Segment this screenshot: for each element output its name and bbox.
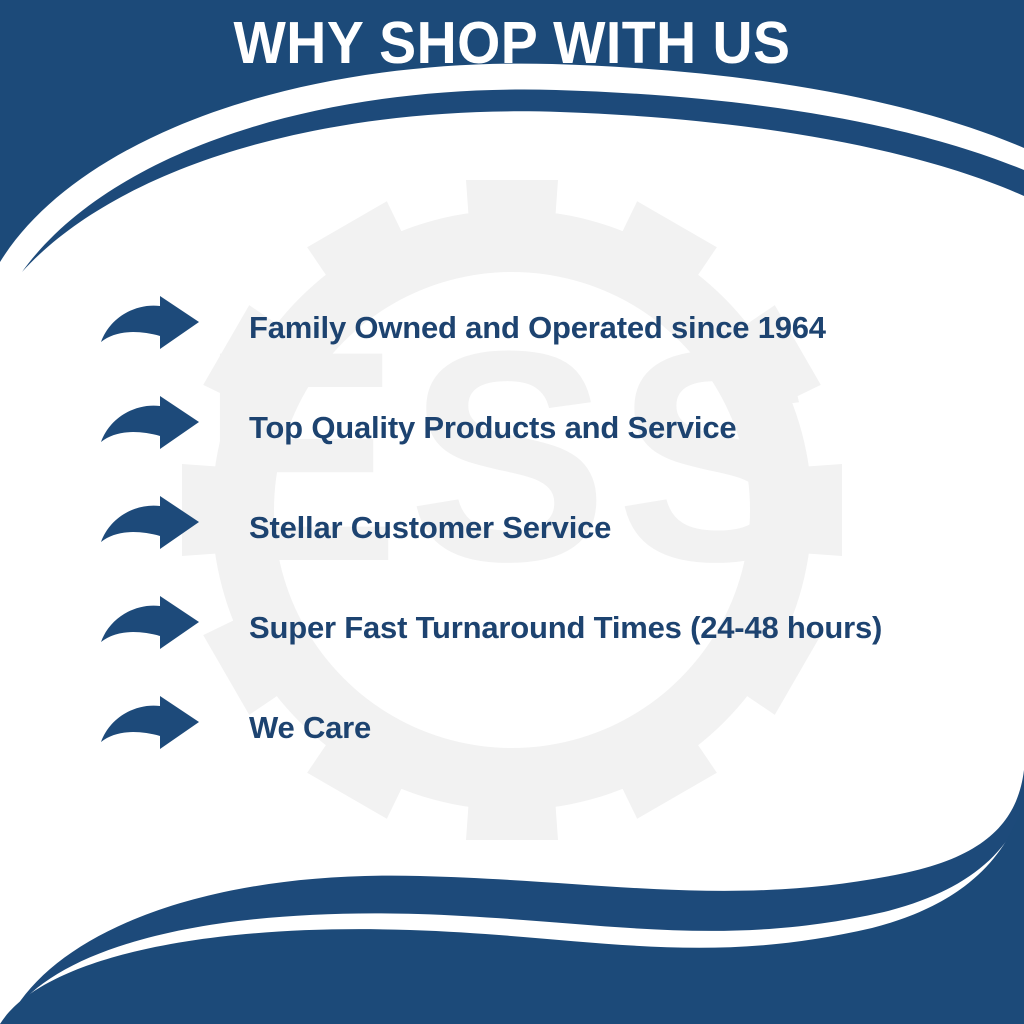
curved-arrow-right-icon [100,496,200,552]
list-item-label: Family Owned and Operated since 1964 [200,296,980,343]
list-item: Top Quality Products and Service [100,396,980,496]
list-item: Family Owned and Operated since 1964 [100,296,980,396]
promo-banner: ESS WHY SHOP WITH US Family Owned and Op… [0,0,1024,1024]
list-item-label: Stellar Customer Service [200,496,980,543]
curved-arrow-right-icon [100,596,200,652]
list-item: Super Fast Turnaround Times (24-48 hours… [100,596,980,696]
curved-arrow-right-icon [100,296,200,352]
list-item-label: Super Fast Turnaround Times (24-48 hours… [200,596,980,643]
curved-arrow-right-icon [100,396,200,452]
curved-arrow-right-icon [100,696,200,752]
list-item: Stellar Customer Service [100,496,980,596]
page-title: WHY SHOP WITH US [31,14,994,73]
benefits-list: Family Owned and Operated since 1964 Top… [100,296,980,796]
list-item-label: Top Quality Products and Service [200,396,980,443]
list-item: We Care [100,696,980,796]
list-item-label: We Care [200,696,980,743]
